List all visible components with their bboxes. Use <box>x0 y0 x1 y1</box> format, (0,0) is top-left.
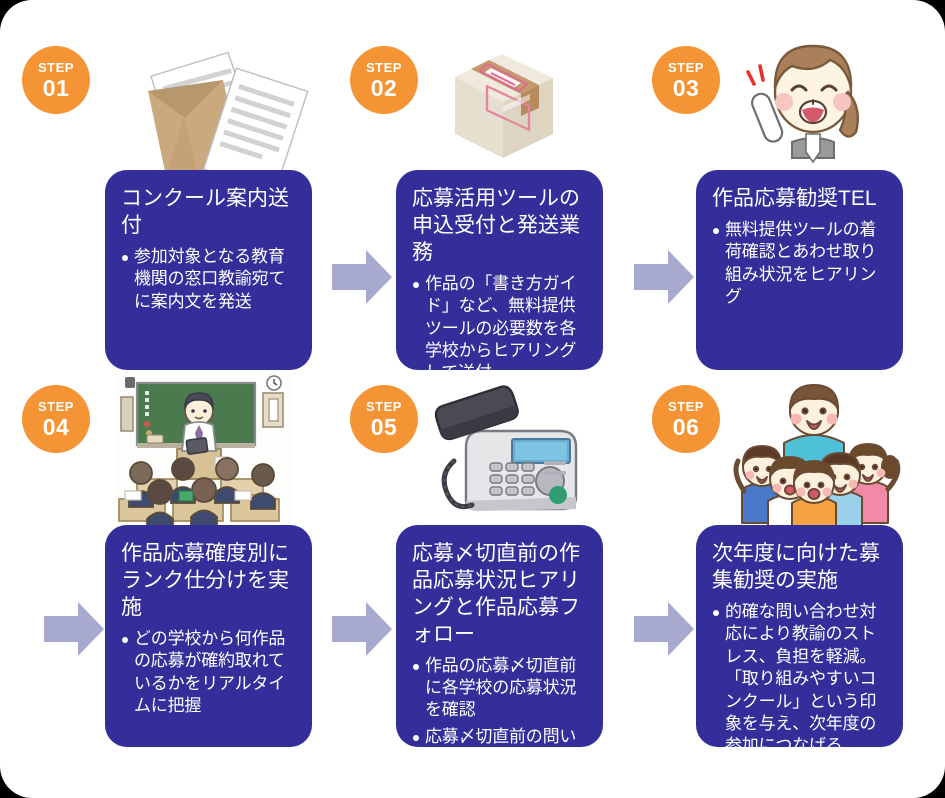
step-title-05: 応募〆切直前の作品応募状況ヒアリングと作品応募フォロー <box>412 541 587 649</box>
step-card-03[interactable]: 作品応募勧奨TEL 無料提供ツールの着荷確認とあわせ取り組み状況をヒアリング <box>696 170 903 370</box>
bullet-item: 応募〆切直前の問い合わせにしっかりと対応 <box>412 726 587 793</box>
woman-phone-operator-icon <box>734 30 894 180</box>
badge-number: 04 <box>43 416 70 439</box>
step-bullets-02: 作品の「書き方ガイド」など、無料提供ツールの必要数を各学校からヒアリングして送付 <box>412 273 587 385</box>
badge-word: STEP <box>668 400 704 413</box>
bullet-item: 無料提供ツールの着荷確認とあわせ取り組み状況をヒアリング <box>712 219 887 309</box>
step-bullets-04: どの学校から何作品の応募が確約取れているかをリアルタイムに把握 <box>121 628 296 718</box>
step-bullets-05: 作品の応募〆切直前に各学校の応募状況を確認 応募〆切直前の問い合わせにしっかりと… <box>412 655 587 794</box>
step-bullets-06: 的確な問い合わせ対応により教諭のストレス、負担を軽減。「取り組みやすいコンクール… <box>712 601 887 758</box>
step-badge-01: STEP 01 <box>22 46 90 114</box>
step-card-01[interactable]: コンクール案内送付 参加対象となる教育機関の窓口教諭宛てに案内文を発送 <box>105 170 312 370</box>
step-grid: STEP 01 コンクール案内送付 参加対象となる教育機関の窓口教諭宛てに案内文… <box>0 0 945 798</box>
badge-number: 06 <box>673 416 700 439</box>
badge-word: STEP <box>366 400 402 413</box>
step-card-02[interactable]: 応募活用ツールの申込受付と発送業務 作品の「書き方ガイド」など、無料提供ツールの… <box>396 170 603 370</box>
step-cell-06[interactable]: STEP 06 次年度に向けた募集勧奨の実施 的確な問い合わせ対応により教諭のス… <box>630 375 945 750</box>
bullet-item: 作品の「書き方ガイド」など、無料提供ツールの必要数を各学校からヒアリングして送付 <box>412 273 587 385</box>
arrow-step4-to-step5 <box>332 600 394 658</box>
badge-number: 02 <box>371 77 398 100</box>
badge-number: 01 <box>43 77 70 100</box>
classroom-teacher-students-icon <box>115 375 291 527</box>
step-badge-05: STEP 05 <box>350 385 418 453</box>
step-cell-01[interactable]: STEP 01 コンクール案内送付 参加対象となる教育機関の窓口教諭宛てに案内文… <box>0 20 330 370</box>
step-card-06[interactable]: 次年度に向けた募集勧奨の実施 的確な問い合わせ対応により教諭のストレス、負担を軽… <box>696 525 903 747</box>
step-bullets-03: 無料提供ツールの着荷確認とあわせ取り組み状況をヒアリング <box>712 219 887 309</box>
badge-word: STEP <box>366 61 402 74</box>
arrow-step2-to-step3 <box>634 248 696 306</box>
badge-number: 03 <box>673 77 700 100</box>
envelope-documents-icon <box>118 36 313 186</box>
step-title-04: 作品応募確度別にランク仕分けを実施 <box>121 541 296 622</box>
step-cell-04[interactable]: STEP 04 作品応募確度別にランク仕分けを実施 どの学校から何作品の応募が確… <box>0 375 330 750</box>
step-badge-04: STEP 04 <box>22 385 90 453</box>
step-title-06: 次年度に向けた募集勧奨の実施 <box>712 541 887 595</box>
step-cell-02[interactable]: STEP 02 応募活用ツールの申込受付と発送業務 作品の「書き方ガイド」など、… <box>330 20 630 370</box>
step-title-03: 作品応募勧奨TEL <box>712 186 887 213</box>
process-flow-diagram: STEP 01 コンクール案内送付 参加対象となる教育機関の窓口教諭宛てに案内文… <box>0 0 945 798</box>
arrow-step5-to-step6 <box>634 600 696 658</box>
step-card-05[interactable]: 応募〆切直前の作品応募状況ヒアリングと作品応募フォロー 作品の応募〆切直前に各学… <box>396 525 603 747</box>
teacher-children-group-icon <box>724 379 904 527</box>
step-title-01: コンクール案内送付 <box>121 186 296 240</box>
step-card-04[interactable]: 作品応募確度別にランク仕分けを実施 どの学校から何作品の応募が確約取れているかを… <box>105 525 312 747</box>
badge-word: STEP <box>38 400 74 413</box>
step-cell-05[interactable]: STEP 05 応募〆切直前の作品応募状況ヒアリングと作品応募フォロー 作品の応… <box>330 375 630 750</box>
bullet-item: 的確な問い合わせ対応により教諭のストレス、負担を軽減。「取り組みやすいコンクール… <box>712 601 887 758</box>
desk-telephone-icon <box>420 385 590 525</box>
step-badge-02: STEP 02 <box>350 46 418 114</box>
badge-word: STEP <box>38 61 74 74</box>
step-title-02: 応募活用ツールの申込受付と発送業務 <box>412 186 587 267</box>
cardboard-package-icon <box>435 42 570 172</box>
arrow-step1-to-step2 <box>332 248 394 306</box>
bullet-item: どの学校から何作品の応募が確約取れているかをリアルタイムに把握 <box>121 628 296 718</box>
bullet-item: 作品の応募〆切直前に各学校の応募状況を確認 <box>412 655 587 722</box>
step-cell-03[interactable]: STEP 03 作品応募勧奨TEL 無料提供ツールの着荷確認とあわせ取り組み状況… <box>630 20 945 370</box>
step-badge-06: STEP 06 <box>652 385 720 453</box>
badge-word: STEP <box>668 61 704 74</box>
step-bullets-01: 参加対象となる教育機関の窓口教諭宛てに案内文を発送 <box>121 246 296 313</box>
arrow-wrap-to-step4 <box>44 600 106 658</box>
bullet-item: 参加対象となる教育機関の窓口教諭宛てに案内文を発送 <box>121 246 296 313</box>
step-badge-03: STEP 03 <box>652 46 720 114</box>
badge-number: 05 <box>371 416 398 439</box>
